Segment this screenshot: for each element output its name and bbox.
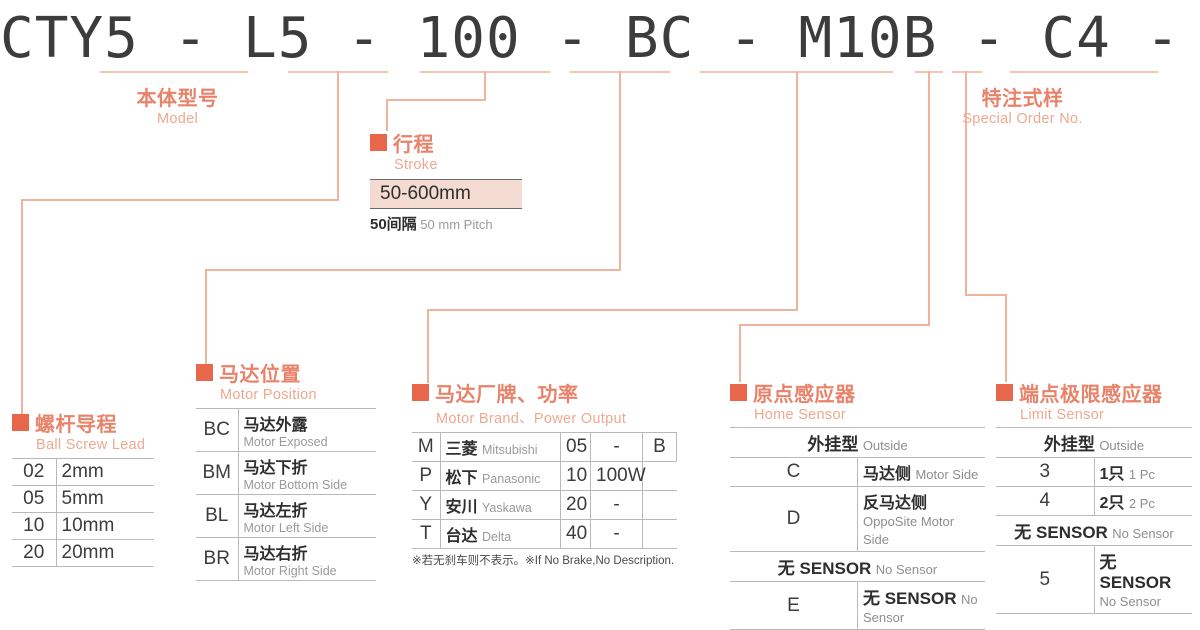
- limit-sensor-title-en: Limit Sensor: [1020, 407, 1192, 423]
- row-value-en: Motor Side: [915, 467, 978, 482]
- stroke-pitch-en: 50 mm Pitch: [420, 217, 492, 232]
- leader-stroke-h: [386, 99, 486, 101]
- row-power: -: [591, 520, 643, 549]
- row-value-en: No Sensor: [1100, 594, 1161, 609]
- row-code: E: [730, 582, 858, 630]
- ball-screw-lead-table: 02 2mm 05 5mm 10 10mm 20 20mm: [12, 458, 154, 567]
- motor-brand-title-cn: 马达厂牌、功率: [435, 378, 579, 407]
- row-value-en: Motor Right Side: [244, 564, 372, 578]
- row-power-code: 20: [561, 491, 591, 520]
- row-value-cn: 马达侧: [863, 466, 911, 483]
- band-outside-en: Outside: [1099, 438, 1144, 453]
- row-brand-en: Yaskawa: [482, 501, 532, 515]
- leader-home-v1: [928, 71, 930, 326]
- row-value-en: 2 Pc: [1129, 496, 1155, 511]
- diagram-canvas: CTY5 - L5 - 100 - BC - M10B - C4 - 0001 …: [0, 0, 1200, 575]
- section-limit-sensor: 端点极限感应器 Limit Sensor 外挂型 Outside 3 1只 1 …: [996, 378, 1192, 614]
- band-no-sensor: 无 SENSOR No Sensor: [730, 552, 985, 582]
- special-order-title-en: Special Order No.: [945, 111, 1100, 127]
- table-band-row: 无 SENSOR No Sensor: [996, 516, 1192, 546]
- stroke-pitch: 50间隔 50 mm Pitch: [370, 213, 522, 234]
- row-value-cn: 1只: [1100, 466, 1125, 483]
- section-ball-screw-lead: 螺杆导程 Ball Screw Lead 02 2mm 05 5mm 10 10…: [12, 408, 154, 567]
- table-row[interactable]: 02 2mm: [12, 459, 154, 486]
- section-motor-position: 马达位置 Motor Position BC 马达外露 Motor Expose…: [196, 358, 376, 581]
- table-row[interactable]: 5 无 SENSOR No Sensor: [996, 546, 1192, 614]
- table-row[interactable]: Y 安川 Yaskawa 20 -: [412, 491, 677, 520]
- table-row[interactable]: 20 20mm: [12, 540, 154, 567]
- section-motor-brand: 马达厂牌、功率 Motor Brand、Power Output M 三菱 Mi…: [412, 378, 677, 568]
- row-value: 5mm: [56, 486, 154, 513]
- limit-sensor-marker-icon: [996, 384, 1013, 401]
- leader-lead-v2: [21, 199, 23, 414]
- row-power-code: 05: [561, 433, 591, 462]
- row-code: 20: [12, 540, 56, 567]
- motor-position-marker-icon: [196, 364, 213, 381]
- leader-brand-v1: [796, 71, 798, 311]
- row-code: 5: [996, 546, 1094, 614]
- leader-mpos-v2: [205, 269, 207, 364]
- row-value: 10mm: [56, 513, 154, 540]
- table-row[interactable]: 3 1只 1 Pc: [996, 458, 1192, 487]
- section-special-order: 特注式样 Special Order No.: [945, 82, 1100, 127]
- table-row[interactable]: BM 马达下折 Motor Bottom Side: [196, 452, 376, 495]
- stroke-pitch-cn: 50间隔: [370, 216, 417, 233]
- row-power: 100W: [591, 462, 643, 491]
- section-home-sensor: 原点感应器 Home Sensor 外挂型 Outside C 马达侧 Moto…: [730, 378, 985, 630]
- row-brand: 三菱 Mitsubishi: [440, 433, 561, 462]
- leader-mpos-h: [205, 269, 621, 271]
- row-value: 马达外露 Motor Exposed: [238, 409, 376, 452]
- home-sensor-table: 外挂型 Outside C 马达侧 Motor Side D 反马达侧 Oppo: [730, 427, 985, 630]
- row-code: 05: [12, 486, 56, 513]
- row-code: BM: [196, 452, 238, 495]
- row-code: 02: [12, 459, 56, 486]
- row-code: BR: [196, 538, 238, 581]
- band-outside: 外挂型 Outside: [996, 428, 1192, 458]
- leader-stroke-v2: [386, 99, 388, 131]
- leader-lead-v1: [337, 71, 339, 201]
- band-no-sensor-cn: 无 SENSOR: [778, 559, 872, 578]
- row-code: 3: [996, 458, 1094, 487]
- row-brand: 松下 Panasonic: [440, 462, 561, 491]
- band-outside-cn: 外挂型: [807, 435, 858, 454]
- row-value-cn: 马达左折: [244, 497, 372, 521]
- leader-lead-h: [21, 199, 339, 201]
- row-value-en: Motor Left Side: [244, 521, 372, 535]
- motor-brand-table: M 三菱 Mitsubishi 05 - B P 松下 Panasonic 10: [412, 432, 677, 549]
- row-value: 2mm: [56, 459, 154, 486]
- row-value: 反马达侧 OppoSite Motor Side: [858, 487, 986, 552]
- code-underline-limit-sensor: [952, 71, 982, 73]
- row-brake: B: [643, 433, 677, 462]
- row-value-en: Motor Bottom Side: [244, 478, 372, 492]
- row-value-cn: 马达右折: [244, 540, 372, 564]
- motor-brand-marker-icon: [412, 384, 429, 401]
- stroke-title-en: Stroke: [394, 157, 522, 173]
- stroke-marker-icon: [370, 134, 387, 151]
- product-code: CTY5 - L5 - 100 - BC - M10B - C4 - 0001: [0, 6, 1200, 71]
- section-model: 本体型号 Model: [120, 82, 235, 127]
- row-power: -: [591, 491, 643, 520]
- row-value: 2只 2 Pc: [1094, 487, 1192, 516]
- row-power-code: 10: [561, 462, 591, 491]
- table-row[interactable]: BL 马达左折 Motor Left Side: [196, 495, 376, 538]
- band-outside-en: Outside: [863, 438, 908, 453]
- table-row[interactable]: T 台达 Delta 40 -: [412, 520, 677, 549]
- table-row[interactable]: 4 2只 2 Pc: [996, 487, 1192, 516]
- table-row[interactable]: BC 马达外露 Motor Exposed: [196, 409, 376, 452]
- leader-limit-h: [965, 294, 1006, 296]
- row-value-cn: 反马达侧: [863, 495, 927, 512]
- row-code: C: [730, 458, 858, 487]
- row-brand-en: Panasonic: [482, 472, 540, 486]
- motor-brand-footnote: ※若无刹车则不表示。※If No Brake,No Description.: [412, 552, 677, 568]
- stroke-range-value: 50-600mm: [370, 179, 522, 209]
- special-order-title-cn: 特注式样: [945, 82, 1100, 111]
- band-no-sensor: 无 SENSOR No Sensor: [996, 516, 1192, 546]
- row-value: 马达下折 Motor Bottom Side: [238, 452, 376, 495]
- table-row[interactable]: C 马达侧 Motor Side: [730, 458, 985, 487]
- row-value: 无 SENSOR No Sensor: [858, 582, 986, 630]
- limit-sensor-table: 外挂型 Outside 3 1只 1 Pc 4 2只 2 Pc: [996, 427, 1192, 614]
- motor-brand-title-en: Motor Brand、Power Output: [436, 407, 677, 428]
- table-row[interactable]: E 无 SENSOR No Sensor: [730, 582, 985, 630]
- home-sensor-marker-icon: [730, 384, 747, 401]
- section-stroke: 行程 Stroke 50-600mm 50间隔 50 mm Pitch: [370, 128, 522, 234]
- leader-home-v2: [739, 324, 741, 382]
- leader-stroke-v1: [484, 71, 486, 101]
- band-no-sensor-en: No Sensor: [1112, 526, 1173, 541]
- leader-mpos-v1: [619, 71, 621, 271]
- ball-screw-lead-title-en: Ball Screw Lead: [36, 437, 154, 453]
- row-brake: [643, 491, 677, 520]
- row-brake: [643, 520, 677, 549]
- model-title-cn: 本体型号: [120, 82, 235, 111]
- row-value: 马达左折 Motor Left Side: [238, 495, 376, 538]
- ball-screw-lead-title-cn: 螺杆导程: [35, 408, 117, 437]
- row-brand: 台达 Delta: [440, 520, 561, 549]
- table-row[interactable]: 10 10mm: [12, 513, 154, 540]
- row-code: T: [412, 520, 440, 549]
- ball-screw-lead-marker-icon: [12, 414, 29, 431]
- leader-limit-v2: [1005, 294, 1007, 382]
- table-band-row: 无 SENSOR No Sensor: [730, 552, 985, 582]
- motor-position-title-en: Motor Position: [220, 387, 376, 403]
- table-row[interactable]: P 松下 Panasonic 10 100W: [412, 462, 677, 491]
- band-outside: 外挂型 Outside: [730, 428, 985, 458]
- stroke-title-cn: 行程: [393, 128, 434, 157]
- band-no-sensor-cn: 无 SENSOR: [1014, 523, 1108, 542]
- code-underline-special-order: [1010, 71, 1158, 73]
- row-power-code: 40: [561, 520, 591, 549]
- row-brand: 安川 Yaskawa: [440, 491, 561, 520]
- row-value-cn: 马达外露: [244, 411, 372, 435]
- row-code: D: [730, 487, 858, 552]
- row-code: BL: [196, 495, 238, 538]
- row-brand-cn: 三菱: [446, 441, 478, 458]
- leader-brand-v2: [427, 309, 429, 383]
- row-brand-cn: 松下: [446, 470, 478, 487]
- row-code: 10: [12, 513, 56, 540]
- row-value: 1只 1 Pc: [1094, 458, 1192, 487]
- code-underline-model: [100, 71, 248, 73]
- motor-position-table: BC 马达外露 Motor Exposed BM 马达下折 Motor Bott…: [196, 408, 376, 581]
- row-value-cn: 2只: [1100, 495, 1125, 512]
- row-power: -: [591, 433, 643, 462]
- row-code: BC: [196, 409, 238, 452]
- row-value-cn: 无 SENSOR: [863, 589, 957, 608]
- row-brand-cn: 台达: [446, 528, 478, 545]
- row-value: 马达右折 Motor Right Side: [238, 538, 376, 581]
- row-code: M: [412, 433, 440, 462]
- leader-brand-h: [427, 309, 798, 311]
- row-value: 无 SENSOR No Sensor: [1094, 546, 1192, 614]
- leader-home-h: [739, 324, 930, 326]
- row-value-cn: 马达下折: [244, 454, 372, 478]
- table-row[interactable]: M 三菱 Mitsubishi 05 - B: [412, 433, 677, 462]
- row-value: 20mm: [56, 540, 154, 567]
- row-brand-en: Delta: [482, 530, 511, 544]
- table-row[interactable]: D 反马达侧 OppoSite Motor Side: [730, 487, 985, 552]
- table-row[interactable]: BR 马达右折 Motor Right Side: [196, 538, 376, 581]
- row-code: Y: [412, 491, 440, 520]
- row-brand-cn: 安川: [446, 499, 478, 516]
- band-outside-cn: 外挂型: [1044, 435, 1095, 454]
- motor-position-title-cn: 马达位置: [219, 358, 301, 387]
- model-title-en: Model: [120, 111, 235, 127]
- table-band-row: 外挂型 Outside: [730, 428, 985, 458]
- row-value-en: 1 Pc: [1129, 467, 1155, 482]
- row-brand-en: Mitsubishi: [482, 443, 538, 457]
- row-value: 马达侧 Motor Side: [858, 458, 986, 487]
- limit-sensor-title-cn: 端点极限感应器: [1019, 378, 1163, 407]
- row-value-en: OppoSite Motor Side: [863, 514, 954, 547]
- row-code: 4: [996, 487, 1094, 516]
- home-sensor-title-cn: 原点感应器: [753, 378, 856, 407]
- row-code: P: [412, 462, 440, 491]
- home-sensor-title-en: Home Sensor: [754, 407, 985, 423]
- row-value-cn: 无 SENSOR: [1100, 553, 1172, 592]
- table-row[interactable]: 05 5mm: [12, 486, 154, 513]
- row-value-en: Motor Exposed: [244, 435, 372, 449]
- table-band-row: 外挂型 Outside: [996, 428, 1192, 458]
- row-brake: [643, 462, 677, 491]
